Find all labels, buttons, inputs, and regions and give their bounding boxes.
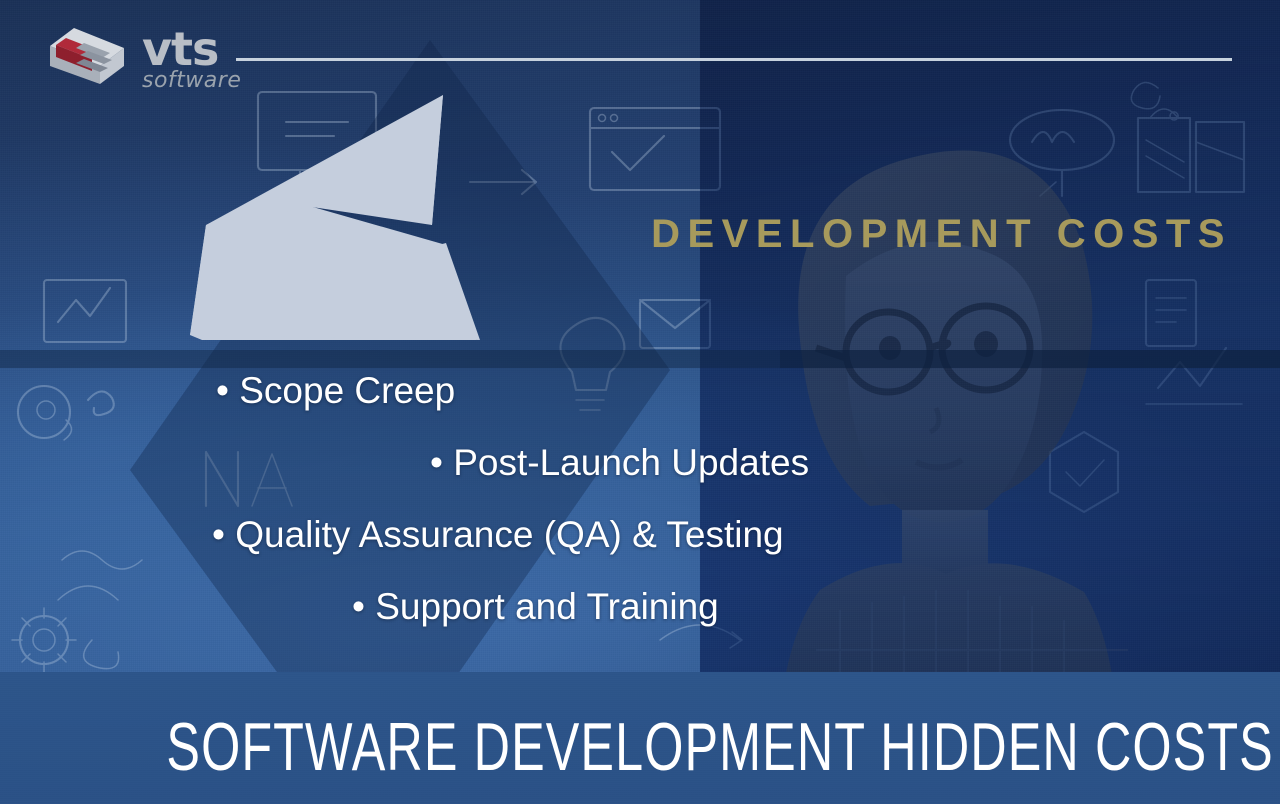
brand-logo[interactable]: vts software xyxy=(44,22,241,92)
brand-name: vts xyxy=(142,26,241,72)
brand-mark-arrow-shape xyxy=(190,95,550,370)
brand-tagline: software xyxy=(142,70,241,92)
brand-wordmark: vts software xyxy=(142,22,241,92)
list-item: • Scope Creep xyxy=(216,372,1280,411)
list-item: • Post-Launch Updates xyxy=(430,444,1280,483)
list-item: • Quality Assurance (QA) & Testing xyxy=(212,516,1280,555)
slide-header: vts software xyxy=(0,0,1280,110)
list-item: • Support and Training xyxy=(352,588,1280,627)
bullet-list: • Scope Creep • Post-Launch Updates • Qu… xyxy=(0,366,1280,626)
bottom-title: SOFTWARE DEVELOPMENT HIDDEN COSTS xyxy=(166,708,1113,786)
header-divider-line xyxy=(236,58,1232,61)
page-title: DEVELOPMENT COSTS xyxy=(651,212,1232,257)
slide-root: vts software DEVELOPMENT COSTS • Scope C… xyxy=(0,0,1280,804)
vts-cube-logo-icon xyxy=(44,26,128,92)
